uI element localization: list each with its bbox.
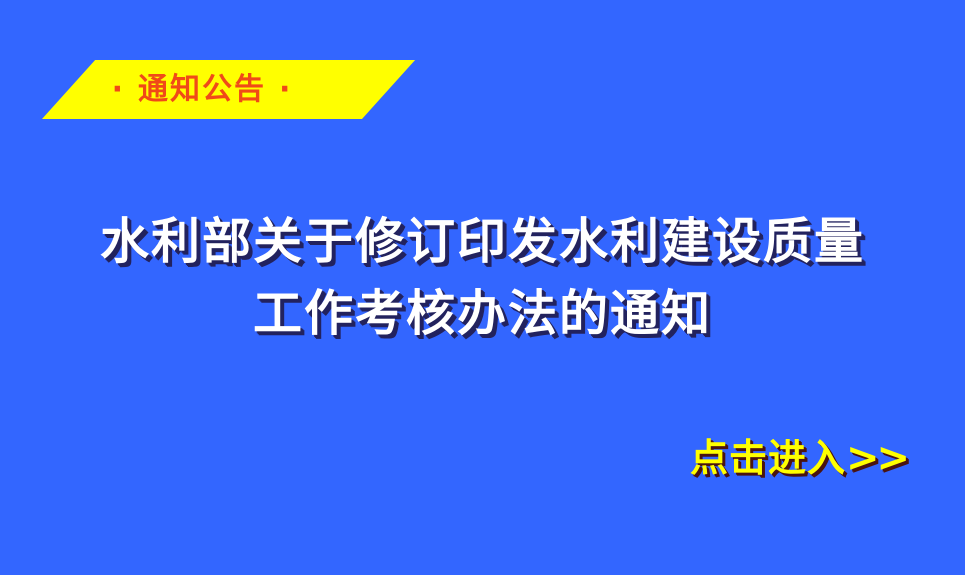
double-chevron-right-icon: >>: [846, 435, 907, 481]
headline-line-2: 工作考核办法的通知: [0, 277, 965, 349]
notice-banner-card: · 通知公告 · 水利部关于修订印发水利建设质量 工作考核办法的通知 点击进入>…: [0, 0, 965, 575]
enter-link-label: 点击进入: [690, 435, 846, 480]
enter-link[interactable]: 点击进入>>: [690, 434, 907, 482]
notice-headline: 水利部关于修订印发水利建设质量 工作考核办法的通知: [0, 205, 965, 349]
headline-line-1: 水利部关于修订印发水利建设质量: [0, 205, 965, 277]
ribbon-shape: [42, 60, 415, 119]
